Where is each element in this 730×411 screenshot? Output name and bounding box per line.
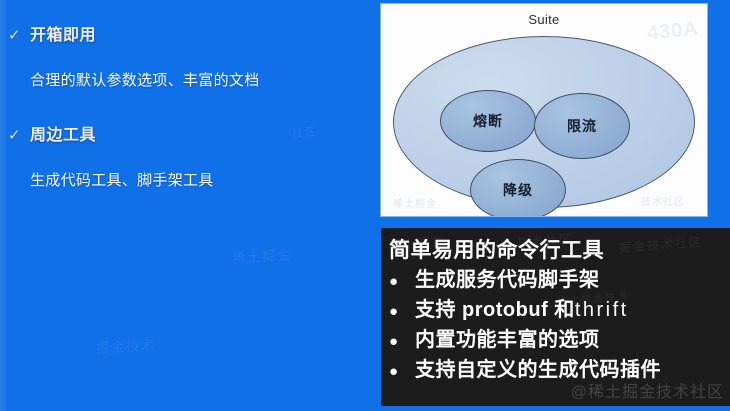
cli-panel-content: 简单易用的命令行工具 ● 生成服务代码脚手架 ● 支持 protobuf 和 t… xyxy=(389,236,730,406)
list-item-label: 内置功能丰富的选项 xyxy=(415,326,600,355)
cli-tool-panel: 稀土掘金 技术社区 掘金技术社区 稀土掘金技术 简单易用的命令行工具 ● 生成服… xyxy=(381,228,730,406)
inner-ellipse-label: 限流 xyxy=(567,116,597,136)
background-watermark: 稀土掘金 xyxy=(231,244,292,267)
bullet-dot-icon: ● xyxy=(389,327,415,356)
diagram-watermark-left: 稀土掘金 xyxy=(393,195,437,210)
list-item-label: 生成服务代码脚手架 xyxy=(415,266,600,295)
background-watermark: 掘金技术 xyxy=(96,334,157,356)
bullet-sub-1: 合理的默认参数选项、丰富的文档 xyxy=(0,70,360,92)
slide-root: ✓ 开箱即用 合理的默认参数选项、丰富的文档 ✓ 周边工具 生成代码工具、脚手架… xyxy=(0,0,730,411)
bullet-group-1: ✓ 开箱即用 合理的默认参数选项、丰富的文档 xyxy=(0,26,360,92)
bullet-group-2: ✓ 周边工具 生成代码工具、脚手架工具 xyxy=(0,126,360,192)
bullet-heading-row-2: ✓ 周边工具 xyxy=(0,126,360,146)
bullet-heading-1: 开箱即用 xyxy=(30,26,96,46)
inner-ellipse-label: 熔断 xyxy=(473,111,503,131)
bullet-dot-icon: ● xyxy=(389,357,415,386)
cli-feature-list: ● 生成服务代码脚手架 ● 支持 protobuf 和 thrift ● 内置功… xyxy=(389,266,730,386)
diagram-title: Suite xyxy=(381,12,707,27)
list-item-mono: thrift xyxy=(575,296,629,325)
suite-diagram: Suite 430A 熔断 限流 降级 稀土掘金 技术社区 xyxy=(381,4,707,216)
list-item-label: 支持 protobuf 和 xyxy=(415,296,575,325)
check-icon: ✓ xyxy=(8,26,22,46)
inner-ellipse-label: 降级 xyxy=(503,180,533,200)
list-item: ● 支持自定义的生成代码插件 xyxy=(389,356,730,386)
cli-panel-heading: 简单易用的命令行工具 xyxy=(389,236,730,266)
inner-ellipse-degradation: 降级 xyxy=(470,159,566,216)
diagram-watermark-right: 技术社区 xyxy=(641,193,685,208)
bullet-dot-icon: ● xyxy=(389,267,415,296)
bullet-sub-2: 生成代码工具、脚手架工具 xyxy=(0,170,360,192)
bullet-heading-row-1: ✓ 开箱即用 xyxy=(0,26,360,46)
list-item: ● 生成服务代码脚手架 xyxy=(389,266,730,296)
list-item-label: 支持自定义的生成代码插件 xyxy=(415,356,661,385)
bullet-heading-2: 周边工具 xyxy=(30,126,96,146)
check-icon: ✓ xyxy=(8,126,22,146)
outer-ellipse-suite: 熔断 限流 降级 xyxy=(393,36,695,208)
list-item: ● 支持 protobuf 和 thrift xyxy=(389,296,730,326)
bullet-dot-icon: ● xyxy=(389,297,415,326)
list-item: ● 内置功能丰富的选项 xyxy=(389,326,730,356)
left-text-column: ✓ 开箱即用 合理的默认参数选项、丰富的文档 ✓ 周边工具 生成代码工具、脚手架… xyxy=(0,0,375,411)
inner-ellipse-circuit-breaker: 熔断 xyxy=(440,90,536,152)
inner-ellipse-rate-limit: 限流 xyxy=(534,93,630,159)
